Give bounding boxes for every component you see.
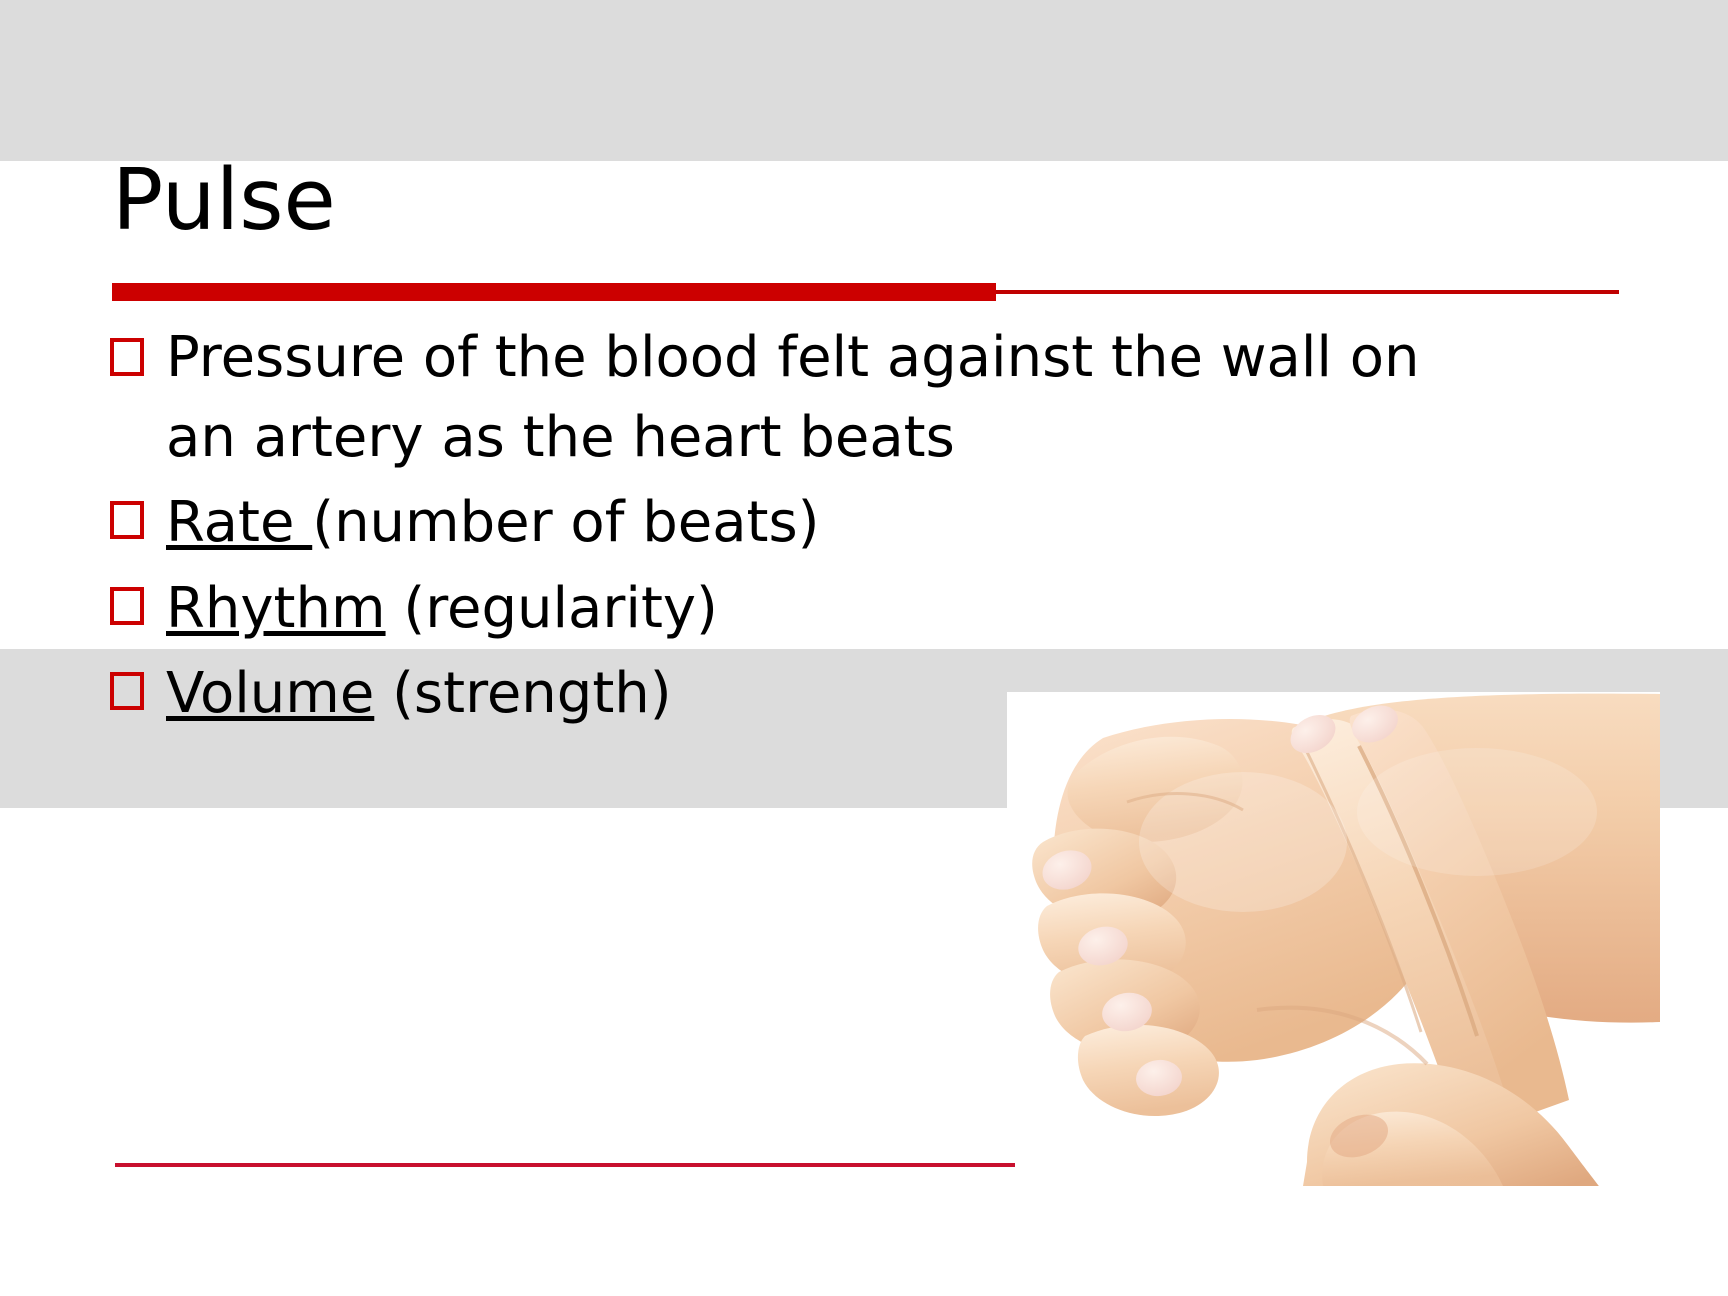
list-item-lead: Volume [166,661,374,726]
square-outline-bullet-icon [110,338,144,376]
title-underline-thick [112,283,996,301]
square-outline-bullet-icon [110,672,144,710]
decorative-band-top [0,0,1728,161]
list-item-body: Pressure of the blood felt against the w… [166,325,1420,470]
list-item-body: (regularity) [386,576,718,641]
page-title: Pulse [112,158,1612,243]
list-item-text: Pressure of the blood felt against the w… [166,318,1471,477]
square-outline-bullet-icon [110,501,144,539]
list-item-body: (strength) [374,661,671,726]
list-item: Rate (number of beats) [110,483,1580,563]
bullet-list: Pressure of the blood felt against the w… [110,318,1580,740]
list-item: Pressure of the blood felt against the w… [110,318,1580,477]
square-outline-bullet-icon [110,587,144,625]
pulse-check-photo [1007,692,1660,1186]
list-item-text: Rhythm (regularity) [166,569,1580,649]
list-item: Rhythm (regularity) [110,569,1580,649]
footer-rule [115,1163,1015,1167]
list-item-lead: Rhythm [166,576,386,641]
list-item-lead: Rate [166,490,312,555]
list-item-body: (number of beats) [312,490,819,555]
slide-canvas: Pulse Pressure of the blood felt against… [0,0,1728,1296]
list-item-text: Rate (number of beats) [166,483,1580,563]
